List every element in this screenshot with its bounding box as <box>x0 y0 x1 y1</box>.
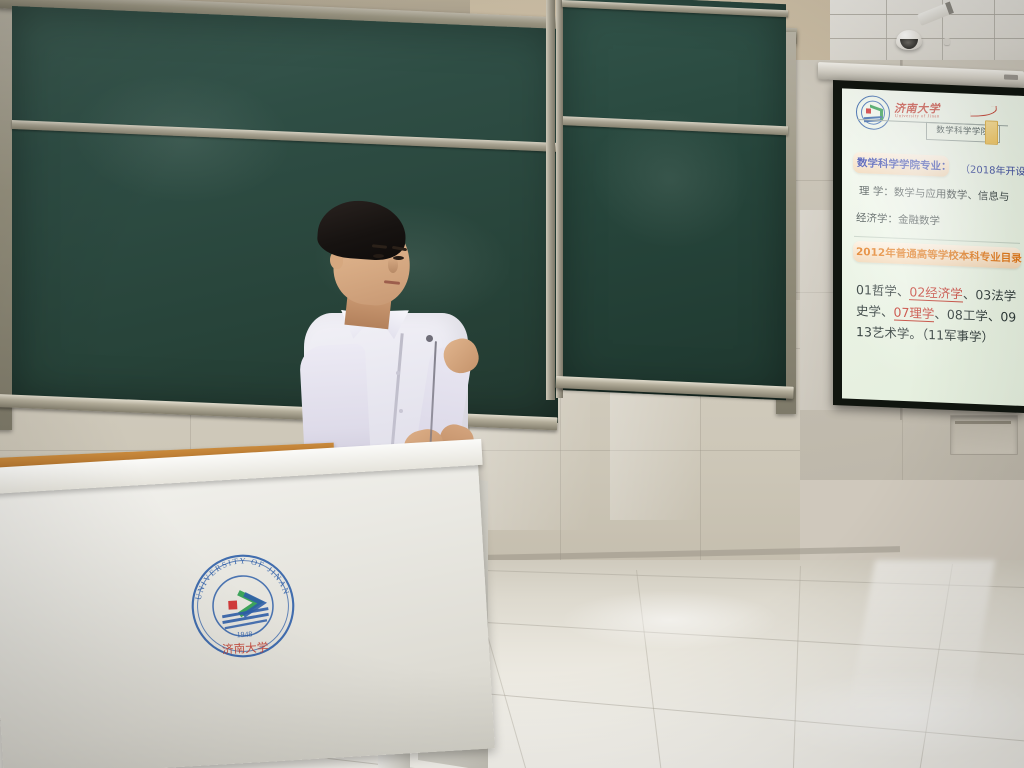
slide-badge-majors-note: （2018年开设 <box>960 160 1024 178</box>
slide-line-economics: 经济学：金融数学 <box>856 210 940 229</box>
dome-camera-icon <box>896 30 922 50</box>
microphone-clip-icon <box>426 335 433 342</box>
list-1-b: 02经济学 <box>909 284 962 302</box>
camera-lens <box>900 39 918 49</box>
slide-list-line-3: 13艺术学。（11军事学） <box>856 321 994 346</box>
list-2-b: 07理学 <box>894 305 935 323</box>
seal-year: 1948 <box>237 629 253 639</box>
nose <box>388 257 398 273</box>
list-2-c: 、08工学、09 <box>934 306 1016 324</box>
university-seal-icon <box>856 95 890 130</box>
list-2-a: 史学、 <box>856 303 894 320</box>
list-1-c: 、03法学 <box>963 286 1016 303</box>
projection-screen: 济南大学 University of Jinan 数学科学学院 数学科学学院专业… <box>833 80 1024 413</box>
seal-cn-name: 济南大学 <box>222 640 269 656</box>
slide-line-science: 理 学：数学与应用数学、信息与 <box>859 183 1009 204</box>
wordmark-swoosh-icon <box>970 106 998 117</box>
roller-endcap <box>1004 74 1018 80</box>
university-of-jinan-seal: UNIVERSITY OF JINAN 1948 济南大学 <box>182 545 304 667</box>
lecture-room-photo: 济南大学 University of Jinan 数学科学学院 数学科学学院专业… <box>0 0 1024 768</box>
slide-accent-chip <box>985 120 998 145</box>
ceiling-sensor-icon <box>944 38 950 45</box>
list-1-a: 01哲学、 <box>856 282 909 299</box>
presentation-slide: 济南大学 University of Jinan 数学科学学院 数学科学学院专业… <box>842 88 1024 406</box>
hair <box>316 198 408 262</box>
